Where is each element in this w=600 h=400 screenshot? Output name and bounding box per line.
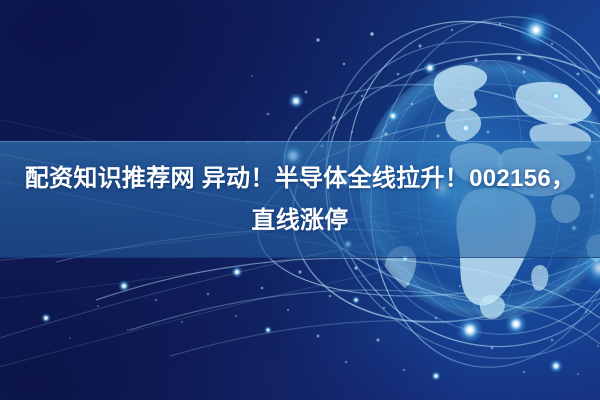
headline-container: 配资知识推荐网 异动！半导体全线拉升！002156，直线涨停	[0, 141, 600, 258]
news-banner-image: 配资知识推荐网 异动！半导体全线拉升！002156，直线涨停	[0, 0, 600, 400]
page-title: 配资知识推荐网 异动！半导体全线拉升！002156，直线涨停	[22, 158, 578, 242]
